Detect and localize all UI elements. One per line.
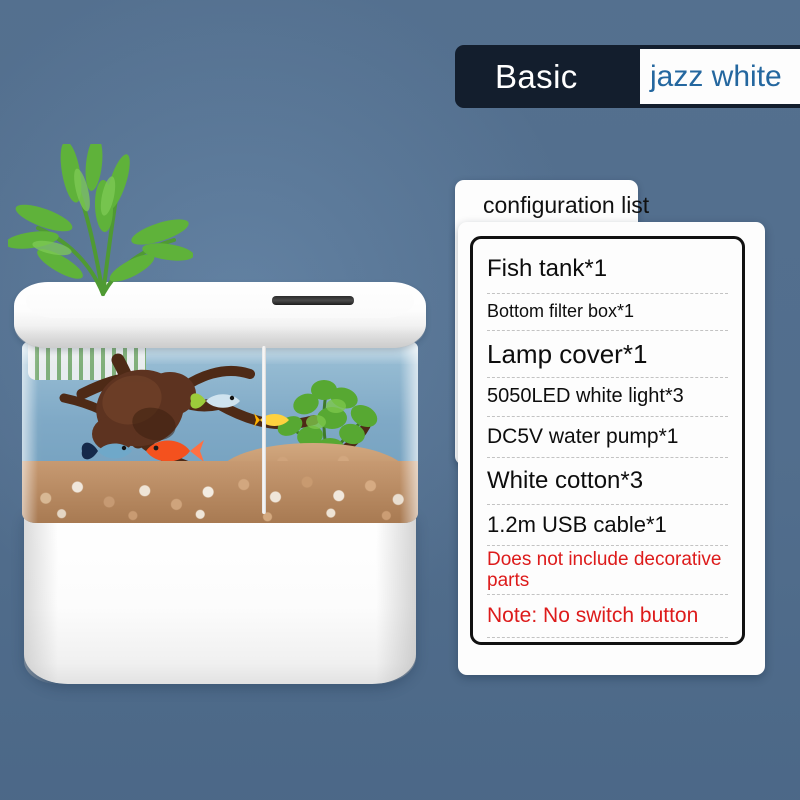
variant-label: jazz white [650, 60, 782, 94]
configuration-list-card: Fish tank*1Bottom filter box*1Lamp cover… [470, 236, 745, 645]
variant-banner: Basic jazz white [455, 45, 800, 108]
product-photo-aquarium [0, 140, 440, 710]
config-list-item: Note: No switch button [487, 595, 728, 638]
variant-chip[interactable]: jazz white [640, 49, 800, 104]
fish-yellow [254, 408, 294, 432]
usb-power-cable [262, 346, 266, 514]
gravel-substrate [22, 461, 418, 523]
configuration-list-items: Fish tank*1Bottom filter box*1Lamp cover… [473, 245, 742, 636]
live-plant-top-icon [8, 144, 193, 304]
config-list-item: DC5V water pump*1 [487, 417, 728, 458]
product-image-canvas: Basic jazz white configuration list Fish… [0, 0, 800, 800]
config-list-item: Does not include decorative parts [487, 546, 728, 595]
config-list-item: White cotton*3 [487, 458, 728, 505]
config-list-item: 5050LED white light*3 [487, 378, 728, 417]
base-shadow-left [24, 512, 58, 684]
bottom-filter-box-base [24, 512, 416, 684]
fish-green-tail [188, 386, 246, 416]
glass-edge-right [400, 338, 418, 523]
configuration-list-panel: Fish tank*1Bottom filter box*1Lamp cover… [458, 222, 765, 675]
lid-shadow [14, 326, 426, 348]
configuration-list-title: configuration list [455, 192, 800, 219]
config-list-item: Lamp cover*1 [487, 331, 728, 378]
lid-vent-slot [272, 296, 354, 305]
glass-edge-left [22, 338, 38, 523]
config-list-item: Fish tank*1 [487, 245, 728, 294]
glass-tank-body [22, 338, 418, 523]
config-list-item: Bottom filter box*1 [487, 294, 728, 331]
banner-title: Basic [495, 58, 578, 96]
config-list-item: 1.2m USB cable*1 [487, 505, 728, 546]
base-shadow-right [376, 512, 416, 684]
